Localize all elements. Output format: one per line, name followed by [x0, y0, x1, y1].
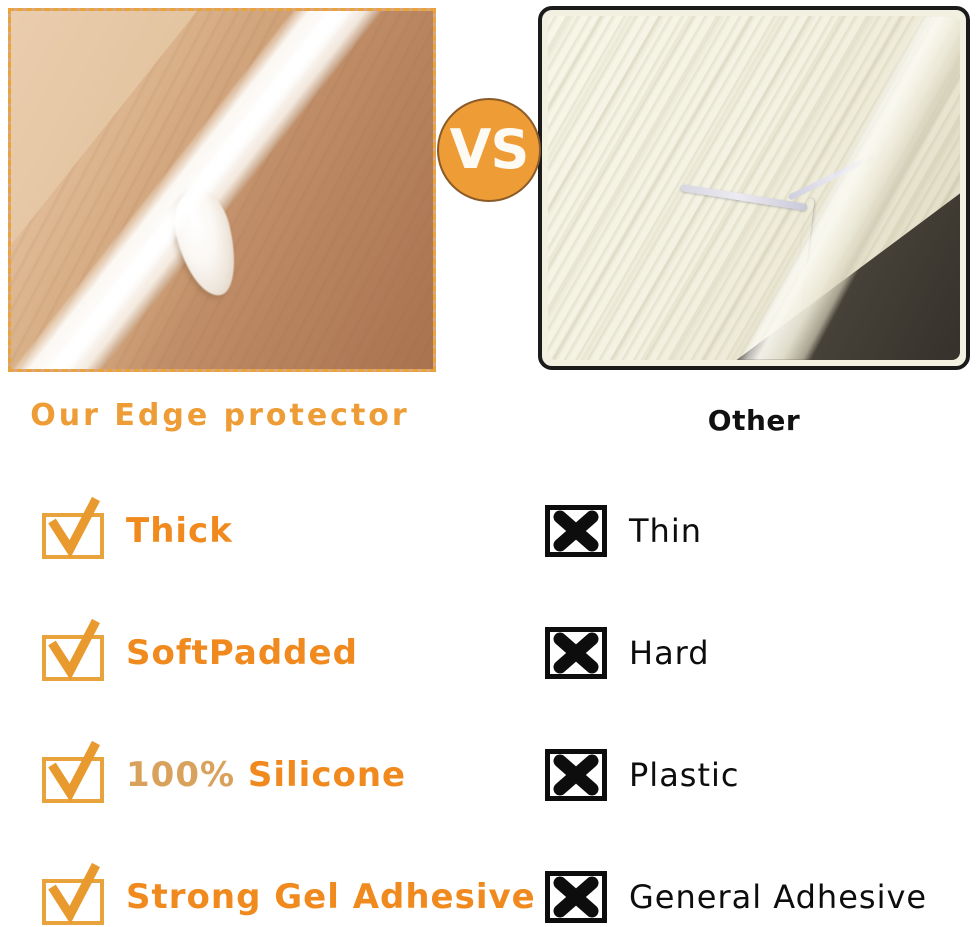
x-box-icon [545, 505, 607, 557]
our-product-photo-panel [8, 8, 436, 372]
comparison-row: Strong Gel Adhesive General Adhesive [0, 836, 976, 927]
comparison-infographic: VS Our Edge protector Other Thick [0, 0, 976, 927]
other-product-caption: Other [538, 404, 970, 437]
our-product-caption: Our Edge protector [0, 398, 440, 433]
other-product-photo [548, 16, 960, 360]
x-box-icon [545, 749, 607, 801]
x-box-icon [545, 627, 607, 679]
comparison-con-label: Plastic [629, 759, 740, 791]
comparison-pro-label: 100% Silicone [126, 758, 406, 792]
check-box-icon [42, 503, 104, 559]
comparison-pro-label: Thick [126, 514, 233, 548]
thin-plastic-strip-arm-upper [788, 153, 877, 200]
comparison-pro-label: SoftPadded [126, 636, 358, 670]
comparison-pro-cell: 100% Silicone [42, 714, 406, 836]
comparison-con-cell: Hard [545, 592, 710, 714]
comparison-row: 100% Silicone Plastic [0, 714, 976, 836]
comparison-pro-cell: Thick [42, 470, 233, 592]
comparison-row: Thick Thin [0, 470, 976, 592]
other-product-photo-panel [538, 6, 970, 370]
thin-plastic-strip-leg [793, 198, 814, 308]
comparison-pro-label: Strong Gel Adhesive [126, 880, 536, 914]
check-box-icon [42, 625, 104, 681]
comparison-con-label: Hard [629, 637, 710, 669]
comparison-pro-cell: SoftPadded [42, 592, 358, 714]
thin-plastic-strip-arm [680, 184, 808, 211]
comparison-list: Thick Thin [0, 470, 976, 927]
comparison-pro-cell: Strong Gel Adhesive [42, 836, 536, 927]
comparison-con-cell: Thin [545, 470, 702, 592]
vs-badge-label: VS [450, 123, 529, 177]
check-box-icon [42, 747, 104, 803]
silicone-edge-nub [167, 184, 246, 302]
x-box-icon [545, 871, 607, 923]
comparison-con-cell: Plastic [545, 714, 740, 836]
comparison-pro-label-main: Silicone [248, 755, 406, 795]
comparison-con-cell: General Adhesive [545, 836, 927, 927]
vs-badge-icon: VS [437, 98, 541, 202]
comparison-con-label: General Adhesive [629, 881, 927, 913]
comparison-pro-label-prefix: 100% [126, 755, 248, 795]
comparison-con-label: Thin [629, 515, 702, 547]
comparison-row: SoftPadded Hard [0, 592, 976, 714]
our-product-photo [11, 11, 433, 369]
check-box-icon [42, 869, 104, 925]
